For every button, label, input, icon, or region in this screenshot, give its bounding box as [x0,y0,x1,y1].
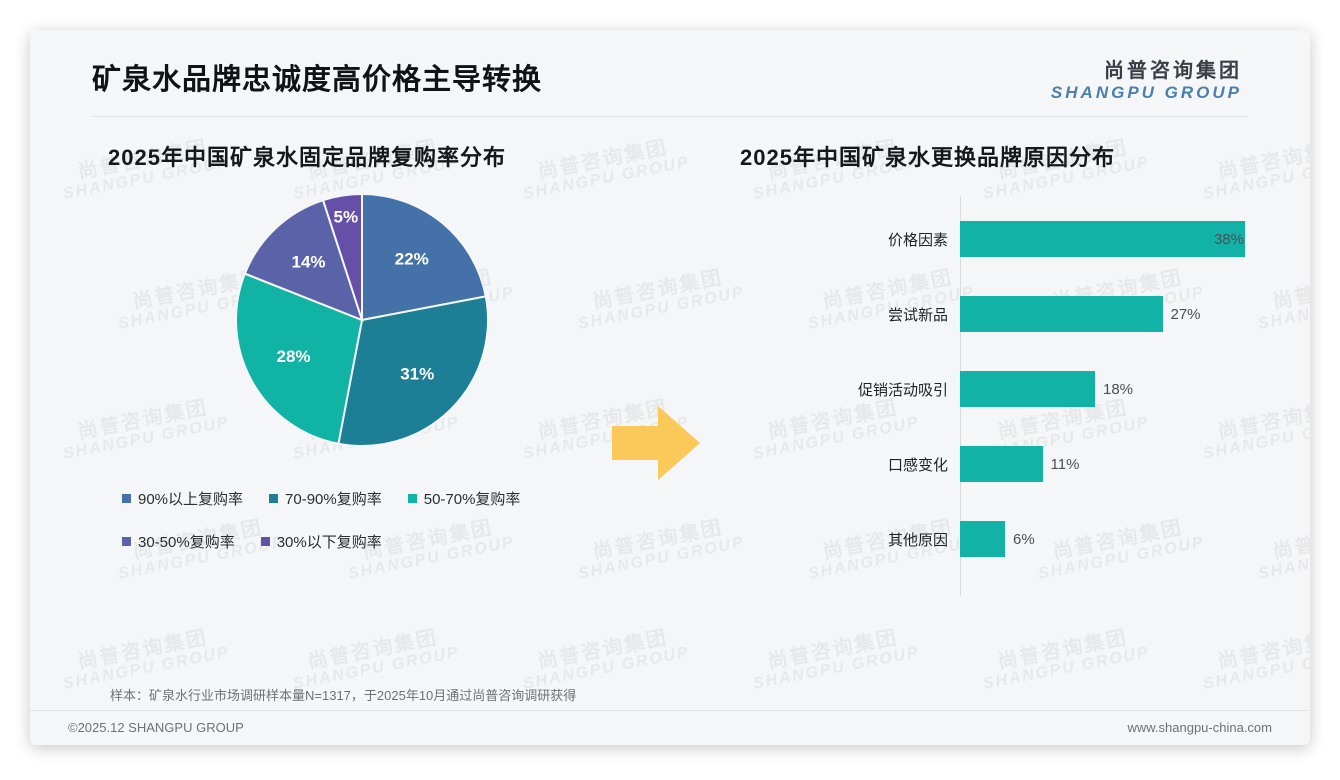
slide-footer: ©2025.12 SHANGPU GROUP www.shangpu-china… [30,711,1310,745]
bar-fill[interactable] [960,521,1005,557]
brand-name-en: SHANGPU GROUP [1051,83,1242,102]
bar-value-label: 18% [1103,381,1133,398]
legend-row-bottom: 30-50%复购率30%以下复购率 [122,531,652,552]
copyright-text: ©2025.12 SHANGPU GROUP [68,720,244,735]
sample-note: 样本：矿泉水行业市场调研样本量N=1317，于2025年10月通过尚普咨询调研获… [110,685,576,704]
legend-item[interactable]: 30-50%复购率 [122,531,235,552]
pie-slices [236,194,488,446]
watermark-text: 尚普咨询集团SHANGPU GROUP [1253,514,1310,583]
pie-slice-label: 22% [395,249,429,268]
legend-label: 50-70%复购率 [424,488,521,509]
bar-category-label: 尝试新品 [730,304,960,325]
slide-header: 矿泉水品牌忠诚度高价格主导转换 尚普咨询集团 SHANGPU GROUP [30,30,1310,116]
bar-value-label: 38% [1214,231,1244,248]
bar-fill[interactable] [960,221,1245,257]
bar-chart-panel: 2025年中国矿泉水更换品牌原因分布 价格因素38%尝试新品27%促销活动吸引1… [730,140,1250,670]
legend-label: 90%以上复购率 [138,488,243,509]
bar-value-label: 27% [1171,306,1201,323]
pie-slice-label: 28% [277,347,311,366]
bar-track: 27% [960,296,1250,332]
bar-fill[interactable] [960,371,1095,407]
bar-category-label: 其他原因 [730,529,960,550]
bar-chart-area: 价格因素38%尝试新品27%促销活动吸引18%口感变化11%其他原因6% [730,196,1250,616]
pie-chart-svg: 22%31%28%14%5% [232,190,492,450]
legend-item[interactable]: 90%以上复购率 [122,488,243,509]
bar-row: 价格因素38% [730,221,1250,257]
bar-chart-title: 2025年中国矿泉水更换品牌原因分布 [740,140,1250,172]
bar-value-label: 11% [1051,456,1080,473]
legend-swatch-icon [408,494,417,503]
bar-category-label: 促销活动吸引 [730,379,960,400]
legend-swatch-icon [122,537,131,546]
pie-slice-label: 31% [400,365,434,384]
slide-canvas: 尚普咨询集团SHANGPU GROUP尚普咨询集团SHANGPU GROUP尚普… [30,30,1310,745]
pie-slice-label: 14% [292,253,326,272]
bar-category-label: 口感变化 [730,454,960,475]
bar-track: 11% [960,446,1250,482]
bar-track: 38% [960,221,1250,257]
legend-item[interactable]: 50-70%复购率 [408,488,521,509]
bar-track: 18% [960,371,1250,407]
page-title: 矿泉水品牌忠诚度高价格主导转换 [92,56,542,98]
bar-row: 尝试新品27% [730,296,1250,332]
legend-label: 70-90%复购率 [285,488,382,509]
pie-chart-area: 22%31%28%14%5% [92,182,672,482]
pie-slice-label: 5% [334,207,359,226]
bar-row: 口感变化11% [730,446,1250,482]
pie-chart-panel: 2025年中国矿泉水固定品牌复购率分布 22%31%28%14%5% 90%以上… [92,140,672,670]
bar-row: 促销活动吸引18% [730,371,1250,407]
legend-swatch-icon [269,494,278,503]
legend-label: 30-50%复购率 [138,531,235,552]
arrow-shape [608,402,704,484]
legend-swatch-icon [261,537,270,546]
bar-fill[interactable] [960,446,1043,482]
pie-chart-title: 2025年中国矿泉水固定品牌复购率分布 [108,140,672,172]
header-divider [92,116,1248,117]
bar-row: 其他原因6% [730,521,1250,557]
watermark-text: 尚普咨询集团SHANGPU GROUP [1253,264,1310,333]
bar-value-label: 6% [1013,531,1035,548]
brand-name-cn: 尚普咨询集团 [1051,60,1242,82]
legend-item[interactable]: 30%以下复购率 [261,531,382,552]
legend-row-top: 90%以上复购率70-90%复购率50-70%复购率 [122,488,652,509]
legend-swatch-icon [122,494,131,503]
bar-fill[interactable] [960,296,1163,332]
legend-item[interactable]: 70-90%复购率 [269,488,382,509]
website-link[interactable]: www.shangpu-china.com [1127,720,1272,735]
right-arrow-icon [608,402,704,489]
pie-legend: 90%以上复购率70-90%复购率50-70%复购率 30-50%复购率30%以… [122,488,652,552]
brand-logo: 尚普咨询集团 SHANGPU GROUP [1051,60,1242,102]
bar-category-label: 价格因素 [730,229,960,250]
bar-track: 6% [960,521,1250,557]
legend-label: 30%以下复购率 [277,531,382,552]
